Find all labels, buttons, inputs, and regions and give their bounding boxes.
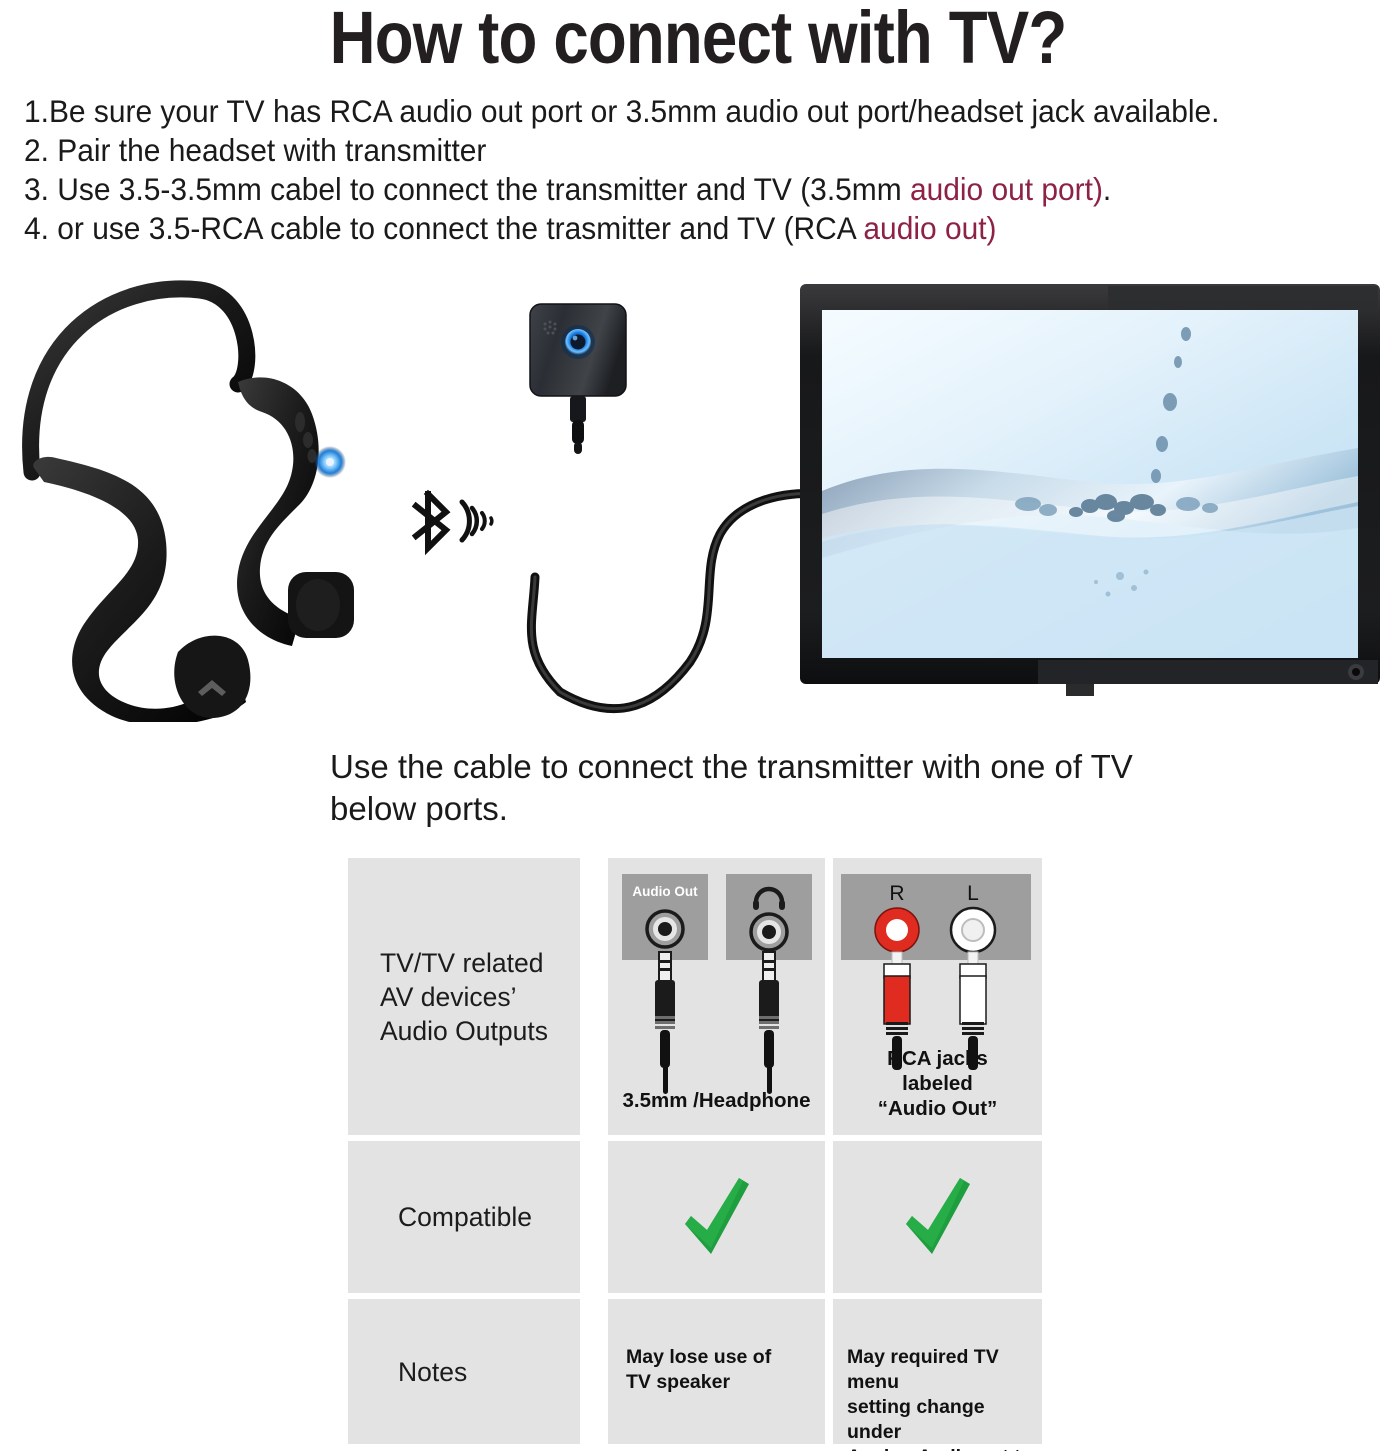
page-title: How to connect with TV? [98,0,1299,78]
note-rca-text: May required TV menu setting change unde… [847,1345,1034,1451]
instruction-list: 1.Be sure your TV has RCA audio out port… [24,92,1374,248]
wireless-signal-icon [462,502,492,540]
note-35mm-line-1: May lose use of [626,1345,817,1370]
instruction-step-4: 4. or use 3.5-RCA cable to connect the t… [24,209,1307,248]
outputs-label-line-1: TV/TV related [380,946,548,980]
step-4-highlight: audio out) [863,210,996,246]
caption-rca-line-1: RCA jacks [833,1046,1042,1071]
notes-label: Notes [398,1355,467,1389]
audio-out-panel-label: Audio Out [632,884,698,899]
check-icon [898,1172,978,1262]
step-3-text: 3. Use 3.5-3.5mm cabel to connect the tr… [24,171,910,207]
caption-line-1: Use the cable to connect the transmitter… [330,746,1150,788]
check-icon [677,1172,757,1262]
row-label-notes: Notes [348,1299,580,1444]
bluetooth-icon [416,494,446,548]
caption-rca: RCA jacks labeled “Audio Out” [833,1046,1042,1121]
step-3-tail: . [1103,171,1111,207]
step-2-text: 2. Pair the headset with transmitter [24,132,486,168]
instruction-step-2: 2. Pair the headset with transmitter [24,131,1307,170]
table-row-compatible: Compatible [348,1141,1042,1293]
step-4-text: 4. or use 3.5-RCA cable to connect the t… [24,210,863,246]
caption-line-2: below ports. [330,788,1150,830]
note-35mm-text: May lose use of TV speaker [626,1345,817,1395]
note-35mm: May lose use of TV speaker [608,1299,825,1444]
jack-35mm-diagram: Audio Out [608,864,825,1104]
infographic-page: How to connect with TV? 1.Be sure your T… [0,0,1396,1451]
bone-conduction-headset [0,272,420,722]
rca-jacks-diagram: R L [833,864,1042,1074]
bluetooth-signal-group [406,484,516,558]
note-rca-line-1: May required TV menu [847,1345,1034,1395]
compatibility-table: TV/TV related AV devices’ Audio Outputs … [348,858,1042,1444]
outputs-label: TV/TV related AV devices’ Audio Outputs [380,946,548,1048]
instruction-step-1: 1.Be sure your TV has RCA audio out port… [24,92,1307,131]
outputs-label-line-3: Audio Outputs [380,1014,548,1048]
note-rca: May required TV menu setting change unde… [833,1299,1042,1444]
note-35mm-line-2: TV speaker [626,1370,817,1395]
compatible-label: Compatible [398,1200,532,1234]
connection-illustration [0,272,1396,732]
caption-rca-line-3: “Audio Out” [833,1096,1042,1121]
step-1-text: 1.Be sure your TV has RCA audio out port… [24,93,1219,129]
table-caption: Use the cable to connect the transmitter… [330,746,1150,830]
outputs-label-line-2: AV devices’ [380,980,548,1014]
caption-35mm: 3.5mm /Headphone [608,1088,825,1113]
note-rca-line-2: setting change under [847,1395,1034,1445]
cell-rca-ports: R L [833,858,1042,1135]
caption-rca-line-2: labeled [833,1071,1042,1096]
rca-left-label: L [967,882,979,905]
plug-35mm-right [759,952,779,1094]
compatible-35mm [608,1141,825,1293]
table-row-outputs: TV/TV related AV devices’ Audio Outputs … [348,858,1042,1135]
cell-35mm-ports: Audio Out [608,858,825,1135]
rca-right-label: R [889,882,904,905]
note-rca-line-3: Analog Audio out to [847,1445,1034,1451]
plug-35mm-left [655,952,675,1094]
row-label-outputs: TV/TV related AV devices’ Audio Outputs [348,858,580,1135]
row-label-compatible: Compatible [348,1141,580,1293]
bluetooth-transmitter [508,292,708,612]
compatible-rca [833,1141,1042,1293]
television [790,276,1390,696]
instruction-step-3: 3. Use 3.5-3.5mm cabel to connect the tr… [24,170,1307,209]
table-row-notes: Notes May lose use of TV speaker May req… [348,1299,1042,1444]
step-3-highlight: audio out port) [910,171,1103,207]
